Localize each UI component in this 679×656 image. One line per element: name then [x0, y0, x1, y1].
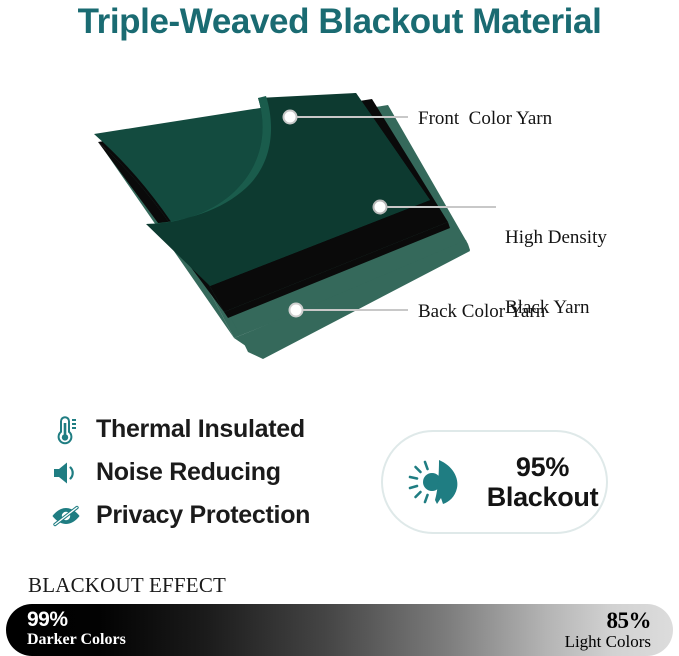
callout-label-front: Front Color Yarn — [418, 107, 552, 130]
feature-row-noise-reducing: Noise Reducing — [46, 451, 356, 494]
leader-dot-back — [290, 304, 303, 317]
blackout-label: Blackout — [487, 482, 599, 512]
feature-row-privacy-protection: Privacy Protection — [46, 494, 356, 537]
callout-label-middle: High Density Black Yarn — [505, 180, 607, 365]
feature-row-thermal-insulated: Thermal Insulated — [46, 408, 356, 451]
blackout-effect-right: 85% Light Colors — [565, 609, 651, 652]
blackout-effect-gradient-bar: 99% Darker Colors 85% Light Colors — [6, 604, 673, 656]
leader-dot-middle — [374, 201, 387, 214]
blackout-effect-left-percent: 99% — [27, 609, 126, 631]
feature-list: Thermal Insulated Noise Reducing Privacy… — [46, 408, 356, 537]
feature-label-thermal-insulated: Thermal Insulated — [96, 415, 305, 444]
page-title: Triple-Weaved Blackout Material — [0, 2, 679, 42]
blackout-badge: 95% Blackout — [381, 430, 608, 534]
eye-slash-icon — [46, 499, 86, 533]
blackout-effect-right-label: Light Colors — [565, 633, 651, 652]
speaker-sound-icon — [46, 456, 86, 490]
blackout-effect-right-percent: 85% — [565, 609, 651, 633]
fabric-diagram: Front Color Yarn High Density Black Yarn… — [0, 72, 679, 362]
thermometer-icon — [46, 413, 86, 447]
feature-label-noise-reducing: Noise Reducing — [96, 458, 281, 487]
blackout-effect-heading: BLACKOUT EFFECT — [28, 573, 226, 598]
blackout-effect-left-label: Darker Colors — [27, 631, 126, 649]
sun-behind-curtain-icon — [383, 452, 479, 512]
blackout-badge-text: 95% Blackout — [479, 452, 606, 512]
blackout-effect-left: 99% Darker Colors — [27, 609, 126, 649]
callout-label-middle-line1: High Density — [505, 226, 607, 249]
leader-dot-front — [284, 111, 297, 124]
callout-label-back: Back Color Yarn — [418, 300, 545, 323]
blackout-percent: 95% — [516, 452, 569, 482]
feature-label-privacy-protection: Privacy Protection — [96, 501, 310, 530]
